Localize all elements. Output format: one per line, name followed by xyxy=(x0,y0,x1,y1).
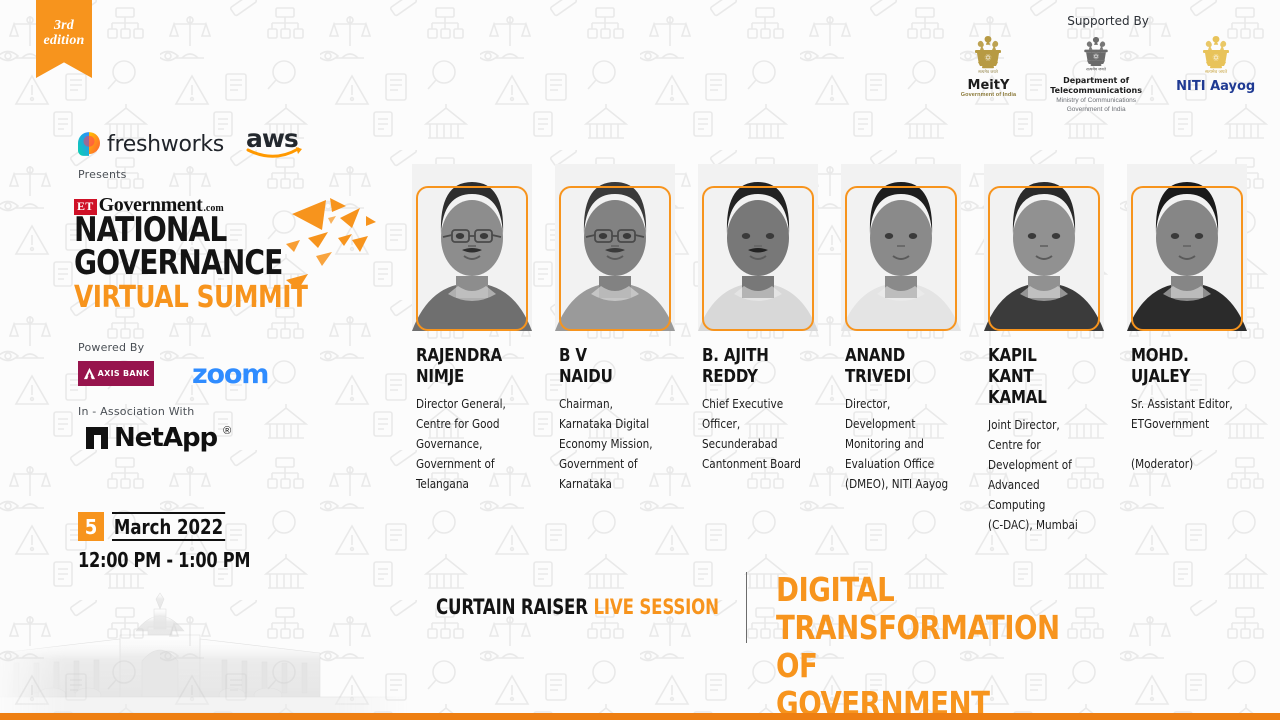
event-poster: 3rdedition fre xyxy=(0,0,1280,720)
speaker-photo-frame xyxy=(845,186,957,331)
speaker-photo-wrap xyxy=(845,186,957,331)
dot-subtitle-1: Ministry of Communications xyxy=(1030,96,1162,105)
event-time: 12:00 PM - 1:00 PM xyxy=(78,548,250,572)
aws-smile-arrow-icon xyxy=(246,147,302,159)
axis-bank-mark-icon xyxy=(83,367,96,380)
supported-by-label: Supported By xyxy=(958,14,1258,28)
speaker-photo-frame xyxy=(416,186,528,331)
ribbon-line-2: edition xyxy=(43,33,84,48)
event-month-year: March 2022 xyxy=(112,512,225,541)
emblem-motto: सत्यमेव जयते xyxy=(979,69,999,74)
speaker-card: MOHD. UJALEYSr. Assistant Editor, ETGove… xyxy=(1131,186,1243,474)
speaker-photo-wrap xyxy=(1131,186,1243,331)
niti-aayog-logo: सत्यमेव जयते NITI Aayog xyxy=(1176,34,1255,94)
bottom-accent-bar xyxy=(0,713,1280,720)
speaker-card: RAJENDRA NIMJEDirector General, Centre f… xyxy=(416,186,528,494)
emblem-motto: सत्यमेव जयते xyxy=(1205,68,1228,75)
event-day: 5 xyxy=(78,512,104,541)
live-session-text: LIVE SESSION xyxy=(593,595,718,619)
speaker-photo-wrap xyxy=(702,186,814,331)
speaker-photo-wrap xyxy=(559,186,671,331)
speaker-photo-wrap xyxy=(988,186,1100,331)
speaker-card: B V NAIDUChairman, Karnataka Digital Eco… xyxy=(559,186,671,494)
netapp-mark-icon xyxy=(86,427,108,449)
powered-by-label: Powered By xyxy=(78,341,144,354)
speaker-name: B. AJITH REDDY xyxy=(702,345,806,387)
ashoka-emblem-icon: सत्यमेव जयते xyxy=(1078,34,1114,76)
speaker-card: ANAND TRIVEDIDirector, Development Monit… xyxy=(845,186,957,494)
dot-subtitle-2: Government of India xyxy=(1030,105,1162,114)
department-of-telecommunications-logo: सत्यमेव जयते Department of Telecommunica… xyxy=(1030,34,1162,114)
speaker-role: Joint Director, Centre for Development o… xyxy=(988,415,1092,535)
speaker-card: KAPIL KANT KAMALJoint Director, Centre f… xyxy=(988,186,1100,535)
aws-logo: aws xyxy=(246,127,302,161)
ribbon-line-1: 3rd xyxy=(54,18,74,33)
meity-logo: सत्यमेव जयते MeitY Government of India xyxy=(961,34,1016,98)
curtain-raiser-text: CURTAIN RAISER xyxy=(436,595,593,619)
zoom-logo: zoom xyxy=(192,362,268,388)
freshworks-wordmark: freshworks xyxy=(107,132,224,157)
speaker-name: B V NAIDU xyxy=(559,345,663,387)
netapp-wordmark: NetApp xyxy=(114,423,217,453)
speaker-photo-frame xyxy=(1131,186,1243,331)
axis-bank-wordmark: AXIS BANK xyxy=(98,369,150,378)
supported-by-section: Supported By xyxy=(958,14,1258,114)
presents-label: Presents xyxy=(78,168,127,181)
left-branding-column: freshworks aws Presents ET Government .c… xyxy=(0,0,400,720)
netapp-trademark-icon: ® xyxy=(223,425,231,437)
ashoka-emblem-icon: सत्यमेव जयते xyxy=(1196,34,1236,78)
supporter-logos: सत्यमेव जयते MeitY Government of India xyxy=(958,34,1258,114)
speaker-name: RAJENDRA NIMJE xyxy=(416,345,520,387)
netapp-logo: NetApp ® xyxy=(86,423,231,453)
in-association-with-label: In - Association With xyxy=(78,405,194,418)
speaker-photo-frame xyxy=(702,186,814,331)
presenting-sponsors: freshworks aws xyxy=(78,127,302,161)
speaker-name: MOHD. UJALEY xyxy=(1131,345,1235,387)
speaker-photo-frame xyxy=(988,186,1100,331)
meity-subtitle: Government of India xyxy=(961,92,1016,98)
speaker-role: Chief Executive Officer, Secunderabad Ca… xyxy=(702,394,806,474)
speaker-role: Director, Development Monitoring and Eva… xyxy=(845,394,949,494)
speaker-photo-frame xyxy=(559,186,671,331)
axis-bank-logo: AXIS BANK xyxy=(78,361,154,386)
speaker-role: Director General, Centre for Good Govern… xyxy=(416,394,520,494)
speaker-role: Sr. Assistant Editor, ETGovernment (Mode… xyxy=(1131,394,1235,474)
date-row: 5 March 2022 xyxy=(78,512,269,541)
emblem-motto: सत्यमेव जयते xyxy=(1086,66,1106,71)
event-date-block: 5 March 2022 12:00 PM - 1:00 PM xyxy=(78,512,269,572)
freshworks-logo: freshworks xyxy=(78,132,224,157)
speaker-name: ANAND TRIVEDI xyxy=(845,345,949,387)
meity-name: MeitY xyxy=(961,79,1016,92)
vertical-divider xyxy=(746,572,747,643)
orange-shards-decoration xyxy=(282,196,382,306)
niti-aayog-name: NITI Aayog xyxy=(1176,80,1255,94)
ribbon-text: 3rdedition xyxy=(43,18,84,48)
dot-name: Department of Telecommunications xyxy=(1030,76,1162,96)
speaker-photo-wrap xyxy=(416,186,528,331)
speaker-card: B. AJITH REDDYChief Executive Officer, S… xyxy=(702,186,814,474)
speaker-role: Chairman, Karnataka Digital Economy Miss… xyxy=(559,394,663,494)
ashoka-emblem-icon: सत्यमेव जयते xyxy=(968,34,1008,78)
freshworks-mark-icon xyxy=(78,132,100,156)
speaker-name: KAPIL KANT KAMAL xyxy=(988,345,1092,408)
session-title: DIGITAL TRANSFORMATION OF GOVERNMENT DEP… xyxy=(776,571,1060,720)
curtain-raiser-label: CURTAIN RAISER LIVE SESSION xyxy=(436,595,719,619)
